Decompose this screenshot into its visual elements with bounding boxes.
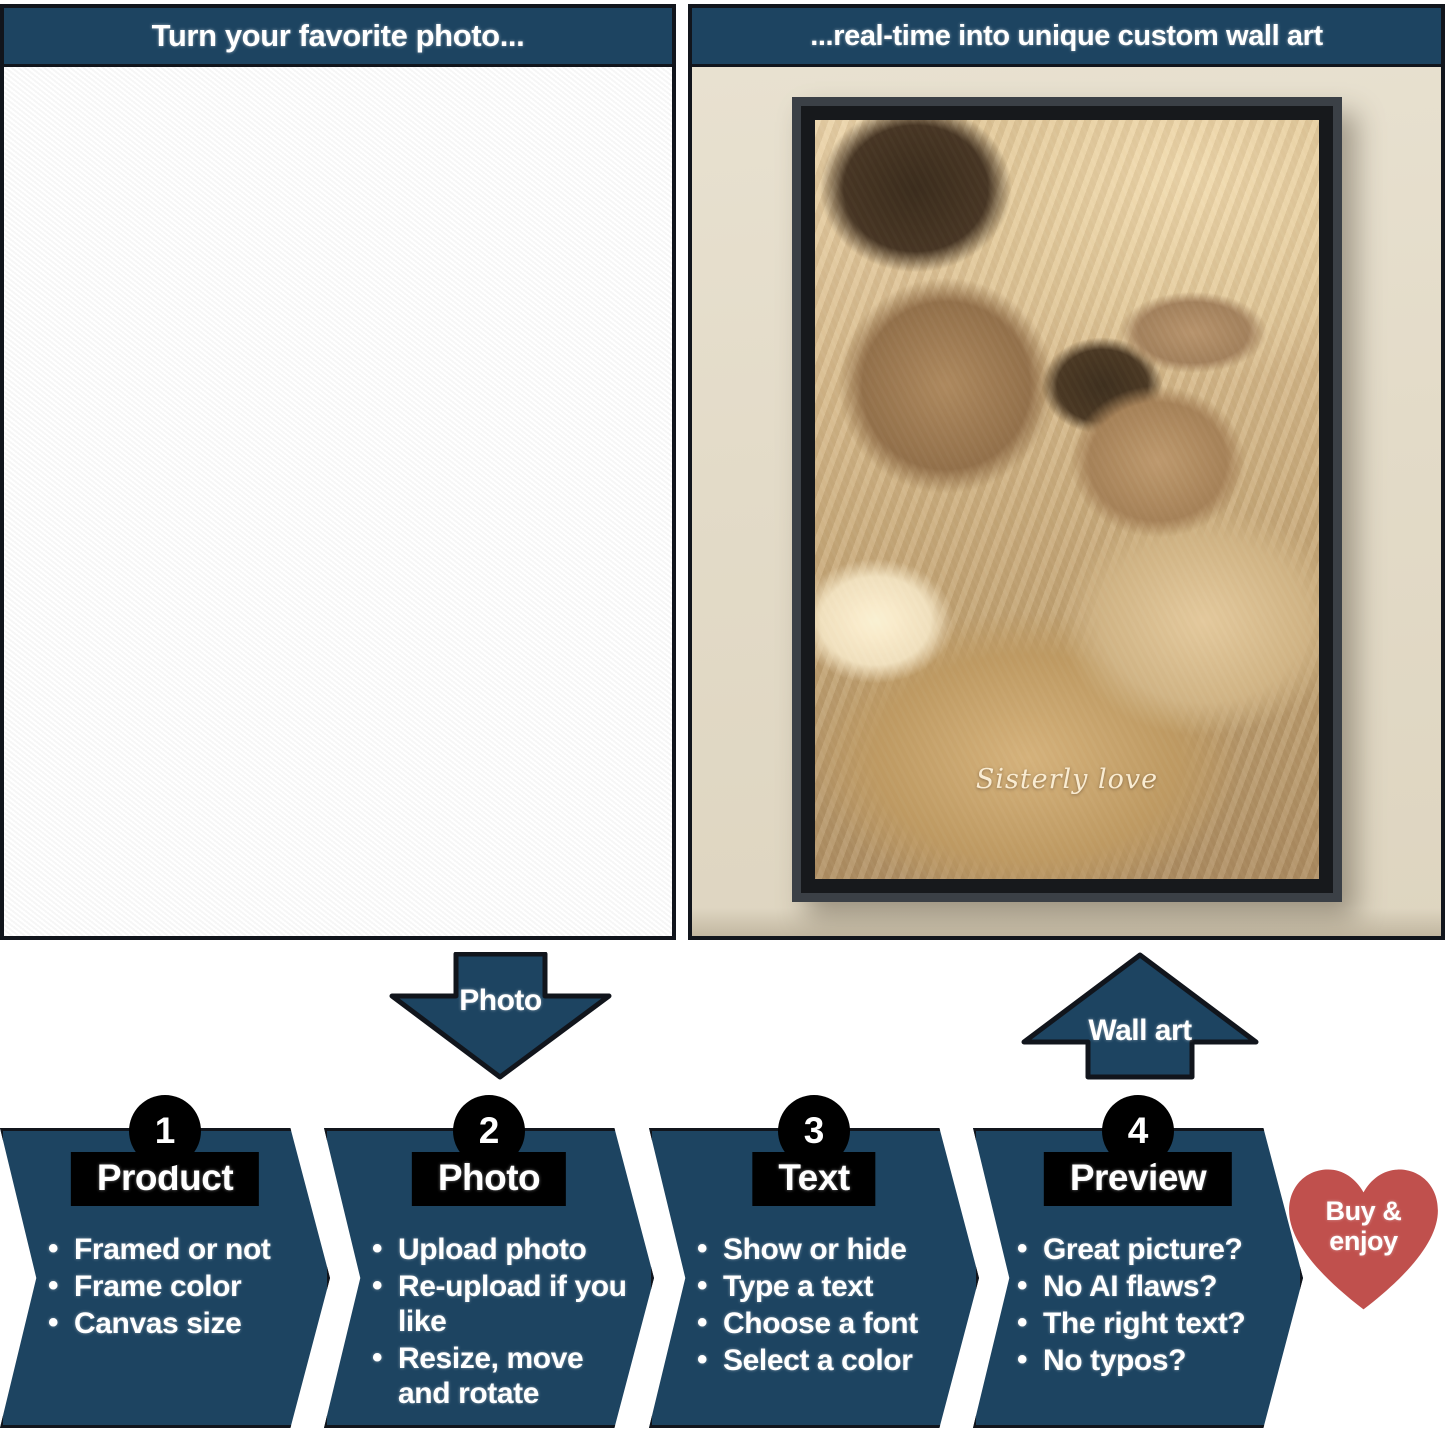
original-photo-panel: Turn your favorite photo... bbox=[0, 4, 676, 940]
step-1-list: Framed or not Frame color Canvas size bbox=[48, 1232, 304, 1343]
step-4-number: 4 bbox=[1102, 1095, 1174, 1167]
list-item: No AI flaws? bbox=[1017, 1269, 1277, 1304]
wall-art-preview-panel: ...real-time into unique custom wall art… bbox=[688, 4, 1445, 940]
wall-floor-shadow bbox=[692, 908, 1441, 936]
step-product[interactable]: 1 Product Framed or not Frame color Canv… bbox=[0, 1128, 330, 1428]
step-text[interactable]: 3 Text Show or hide Type a text Choose a… bbox=[649, 1128, 979, 1428]
photo-flow-arrow: Photo bbox=[388, 952, 613, 1080]
buy-and-enjoy-badge: Buy & enjoy bbox=[1286, 1165, 1441, 1317]
list-item: Canvas size bbox=[48, 1306, 304, 1341]
list-item: Frame color bbox=[48, 1269, 304, 1304]
photo-grain-overlay bbox=[4, 67, 672, 936]
list-item: The right text? bbox=[1017, 1306, 1277, 1341]
original-photo-image bbox=[4, 67, 672, 936]
list-item: Resize, move and rotate bbox=[372, 1341, 628, 1411]
list-item: Choose a font bbox=[697, 1306, 953, 1341]
list-item: Re-upload if you like bbox=[372, 1269, 628, 1339]
steps-flow: 1 Product Framed or not Frame color Canv… bbox=[0, 1128, 1445, 1445]
badge-line-2: enjoy bbox=[1329, 1226, 1398, 1256]
list-item: Upload photo bbox=[372, 1232, 628, 1267]
list-item: Great picture? bbox=[1017, 1232, 1277, 1267]
frame-inner-lip: Sisterly love bbox=[801, 106, 1333, 893]
step-3-list: Show or hide Type a text Choose a font S… bbox=[697, 1232, 953, 1380]
step-2-list: Upload photo Re-upload if you like Resiz… bbox=[372, 1232, 628, 1413]
wall-art-flow-arrow: Wall art bbox=[1020, 952, 1260, 1080]
step-2-number: 2 bbox=[453, 1095, 525, 1167]
buy-and-enjoy-label: Buy & enjoy bbox=[1286, 1196, 1441, 1256]
step-1-number: 1 bbox=[129, 1095, 201, 1167]
badge-line-1: Buy & bbox=[1325, 1196, 1401, 1226]
list-item: Show or hide bbox=[697, 1232, 953, 1267]
list-item: Type a text bbox=[697, 1269, 953, 1304]
wall-art-header: ...real-time into unique custom wall art bbox=[692, 8, 1441, 67]
canvas-caption-text: Sisterly love bbox=[815, 764, 1319, 795]
list-item: Framed or not bbox=[48, 1232, 304, 1267]
picture-frame: Sisterly love bbox=[792, 97, 1342, 902]
arrow-down-icon bbox=[388, 952, 613, 1080]
canvas-artwork-image: Sisterly love bbox=[815, 120, 1319, 879]
original-photo-header: Turn your favorite photo... bbox=[4, 8, 672, 67]
arrow-up-icon bbox=[1020, 952, 1260, 1080]
step-photo[interactable]: 2 Photo Upload photo Re-upload if you li… bbox=[324, 1128, 654, 1428]
list-item: No typos? bbox=[1017, 1343, 1277, 1378]
step-4-list: Great picture? No AI flaws? The right te… bbox=[1017, 1232, 1277, 1380]
original-photo-body bbox=[4, 67, 672, 936]
list-item: Select a color bbox=[697, 1343, 953, 1378]
step-3-number: 3 bbox=[778, 1095, 850, 1167]
comparison-panels: Turn your favorite photo... ...real-time… bbox=[0, 0, 1445, 940]
wall-art-body: Sisterly love bbox=[692, 67, 1441, 936]
step-preview[interactable]: 4 Preview Great picture? No AI flaws? Th… bbox=[973, 1128, 1303, 1428]
